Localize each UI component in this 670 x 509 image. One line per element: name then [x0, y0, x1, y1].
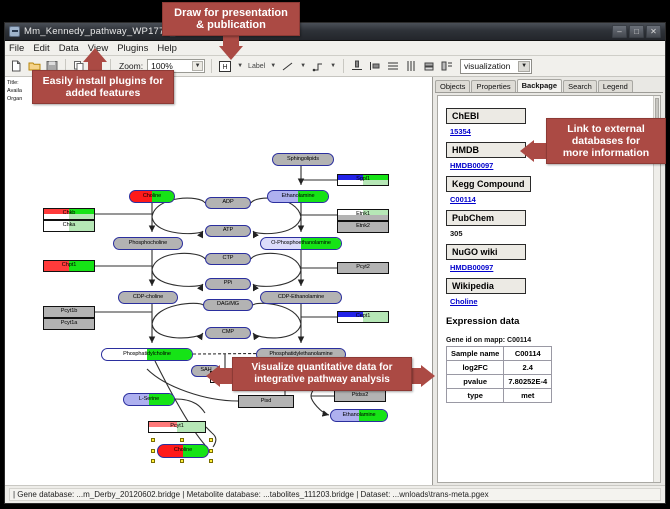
- table-row: log2FC 2.4: [447, 361, 552, 375]
- chevron-down-icon[interactable]: ▼: [330, 63, 336, 69]
- toolbar-separator-3: [211, 59, 212, 73]
- callout-external-links-line3: more information: [555, 147, 657, 159]
- gene-node-pcyt1a[interactable]: Pcyt1a: [43, 318, 95, 330]
- handle-w[interactable]: [151, 449, 155, 453]
- chevron-down-icon[interactable]: ▼: [270, 63, 276, 69]
- node-label: Ethanolamine: [281, 194, 314, 200]
- value-pubchem: 305: [450, 229, 652, 238]
- metabolite-node-atp[interactable]: ATP: [205, 225, 251, 237]
- expression-table: Sample name C00114 log2FC 2.4 pvalue 7.8…: [446, 346, 552, 403]
- metabolite-node-cdp-choline[interactable]: CDP-choline: [118, 291, 178, 304]
- section-header-hmdb: HMDB: [446, 142, 526, 158]
- distribute-rows-icon[interactable]: [386, 59, 400, 73]
- align-bottom-icon[interactable]: [350, 59, 364, 73]
- label-tool[interactable]: Label: [248, 63, 265, 70]
- node-label: Etnk2: [356, 224, 370, 230]
- node-label: O-Phosphoethanolamine: [271, 241, 331, 247]
- callout-visualize-line1: Visualize quantitative data for: [241, 362, 403, 374]
- menu-item-data[interactable]: Data: [59, 43, 79, 54]
- callout-plugins-arrowhead: [83, 48, 107, 62]
- callout-external-links-line2: databases for: [555, 135, 657, 147]
- node-label: Etnk1: [356, 212, 370, 218]
- metabolite-node-sphingolipids[interactable]: Sphingolipids: [272, 153, 334, 166]
- handle-s[interactable]: [180, 459, 184, 463]
- gene-node-chpt1[interactable]: Chpt1: [43, 260, 95, 272]
- gene-node-etnk2[interactable]: Etnk2: [337, 221, 389, 233]
- line-tool-icon[interactable]: [281, 59, 295, 73]
- callout-external-links: Link to external databases for more info…: [546, 118, 666, 164]
- gene-node-pcyt1b[interactable]: Pcyt1b: [43, 306, 95, 318]
- gene-node-chka[interactable]: Chka: [43, 220, 95, 232]
- expr-key-type: type: [447, 389, 504, 403]
- visualization-combo[interactable]: visualization ▼: [460, 59, 532, 74]
- metabolite-node-cdp-ethanolamine[interactable]: CDP-Ethanolamine: [260, 291, 342, 304]
- gene-node-etnk1[interactable]: Etnk1: [337, 209, 389, 221]
- section-header-wikipedia: Wikipedia: [446, 278, 526, 294]
- metabolite-node-ctp[interactable]: CTP: [205, 253, 251, 265]
- node-label: CDP-Ethanolamine: [278, 295, 324, 301]
- node-label: Chka: [63, 223, 76, 229]
- title-bar: Mm_Kennedy_pathway_WP1771_45176.gpml – □…: [5, 23, 665, 41]
- metabolite-node-adp[interactable]: ADP: [205, 197, 251, 209]
- menu-item-edit[interactable]: Edit: [33, 43, 49, 54]
- callout-visualize: Visualize quantitative data for integrat…: [232, 357, 412, 391]
- node-label: Chpt1: [62, 263, 76, 269]
- visualization-value: visualization: [464, 61, 510, 71]
- expr-key-sample-name: Sample name: [447, 347, 504, 361]
- toolbar-separator-4: [343, 59, 344, 73]
- table-row: pvalue 7.80252E-4: [447, 375, 552, 389]
- gene-node-pcyt2[interactable]: Pcyt2: [337, 262, 389, 274]
- metabolite-node-phosphatidylcholine[interactable]: Phosphatidylcholine: [101, 348, 193, 361]
- gene-node-pcyt1[interactable]: Pcyt1: [148, 421, 206, 433]
- maximize-button[interactable]: □: [629, 25, 644, 38]
- link-nugo-wiki[interactable]: HMDB00097: [450, 263, 652, 272]
- tab-search[interactable]: Search: [563, 80, 597, 92]
- menu-item-file[interactable]: File: [9, 43, 24, 54]
- callout-draw-arrowhead: [219, 46, 243, 60]
- expr-val-pvalue: 7.80252E-4: [504, 375, 552, 389]
- callout-external-links-line1: Link to external: [555, 123, 657, 135]
- expression-data-title: Expression data: [446, 316, 652, 327]
- metabolite-node-ethanolamine-bottom[interactable]: Ethanolamine: [330, 409, 388, 422]
- node-label: Sgpl1: [356, 177, 370, 183]
- callout-draw-line2: & publication: [171, 19, 291, 31]
- section-header-nugo-wiki: NuGO wiki: [446, 244, 526, 260]
- align-left-icon[interactable]: [368, 59, 382, 73]
- interaction-tool-icon[interactable]: [311, 59, 325, 73]
- node-label: PPi: [224, 281, 232, 287]
- section-header-kegg-compound: Kegg Compound: [446, 176, 531, 192]
- node-label: Choline: [174, 448, 192, 454]
- screenshot-root: Mm_Kennedy_pathway_WP1771_45176.gpml – □…: [0, 0, 670, 509]
- callout-external-links-arrowhead: [520, 140, 534, 162]
- node-label: Phosphatidylcholine: [123, 352, 171, 358]
- expr-key-log2fc: log2FC: [447, 361, 504, 375]
- new-file-icon[interactable]: [9, 59, 23, 73]
- node-label: CTP: [223, 256, 234, 262]
- handle-sw[interactable]: [151, 459, 155, 463]
- tab-objects[interactable]: Objects: [435, 80, 470, 92]
- table-row: Sample name C00114: [447, 347, 552, 361]
- expr-val-type: met: [504, 389, 552, 403]
- metabolite-node-ppi[interactable]: PPi: [205, 278, 251, 290]
- status-bar: | Gene database: ...m_Derby_20120602.bri…: [5, 485, 665, 503]
- handle-e[interactable]: [209, 449, 213, 453]
- chevron-down-icon[interactable]: ▼: [192, 61, 203, 71]
- table-row: type met: [447, 389, 552, 403]
- handle-ne[interactable]: [209, 438, 213, 442]
- close-button[interactable]: ✕: [646, 25, 661, 38]
- distribute-cols-icon[interactable]: [404, 59, 418, 73]
- gene-node-chkb[interactable]: Chkb: [43, 208, 95, 220]
- tab-legend[interactable]: Legend: [598, 80, 633, 92]
- node-label: Phosphocholine: [129, 241, 167, 247]
- callout-plugins: Easily install plugins for added feature…: [32, 70, 174, 104]
- minimize-button[interactable]: –: [612, 25, 627, 38]
- metabolite-node-dagmg[interactable]: DAG/MG: [203, 299, 253, 311]
- callout-visualize-arrowhead-right: [421, 365, 435, 387]
- metabolite-node-choline-top[interactable]: Choline: [129, 190, 175, 203]
- node-label: CDP-choline: [133, 295, 163, 301]
- chevron-down-icon[interactable]: ▼: [518, 61, 530, 72]
- gene-node-ptdss2[interactable]: Ptdss2: [334, 390, 386, 402]
- metabolite-node-cmp[interactable]: CMP: [205, 327, 251, 339]
- node-label: L-Serine: [139, 397, 159, 403]
- link-wikipedia[interactable]: Choline: [450, 297, 652, 306]
- callout-visualize-arrowhead-left: [206, 365, 220, 387]
- metabolite-node-ethanolamine-top[interactable]: Ethanolamine: [267, 190, 329, 203]
- node-label: CMP: [222, 330, 234, 336]
- node-label: Pcyt1a: [61, 321, 78, 327]
- callout-draw-line1: Draw for presentation: [171, 7, 291, 19]
- node-label: Pcyt1b: [61, 309, 78, 315]
- menu-item-plugins[interactable]: Plugins: [117, 43, 148, 54]
- section-header-pubchem: PubChem: [446, 210, 526, 226]
- node-label: Pcyt2: [356, 265, 370, 271]
- node-label: Cept1: [356, 314, 370, 320]
- section-header-chebi: ChEBI: [446, 108, 526, 124]
- node-label: Ptdss2: [352, 393, 369, 399]
- gene-node-sgpl1[interactable]: Sgpl1: [337, 174, 389, 186]
- callout-plugins-line2: added features: [41, 87, 165, 99]
- side-panel-tabs: Objects Properties Backpage Search Legen…: [435, 79, 663, 93]
- node-label: Choline: [143, 194, 161, 200]
- expression-gene-id: Gene id on mapp: C00114: [446, 337, 652, 344]
- app-icon: [9, 26, 20, 37]
- datanode-icon[interactable]: H: [218, 59, 232, 73]
- metabolite-node-l-serine-left[interactable]: L-Serine: [123, 393, 175, 406]
- node-label: DAG/MG: [217, 302, 239, 308]
- chevron-down-icon[interactable]: ▼: [237, 63, 243, 69]
- stack-icon[interactable]: [422, 59, 436, 73]
- link-kegg-compound[interactable]: C00114: [450, 195, 652, 204]
- node-label: Pisd: [261, 399, 271, 405]
- handle-n[interactable]: [180, 438, 184, 442]
- expr-val-sample-name: C00114: [504, 347, 552, 361]
- node-label: Pcyt1: [170, 424, 184, 430]
- order-icon[interactable]: [440, 59, 454, 73]
- expr-val-log2fc: 2.4: [504, 361, 552, 375]
- handle-se[interactable]: [209, 459, 213, 463]
- chevron-down-icon[interactable]: ▼: [300, 63, 306, 69]
- node-label: Chkb: [63, 211, 76, 217]
- tab-properties[interactable]: Properties: [471, 80, 515, 92]
- gene-node-cept1[interactable]: Cept1: [337, 311, 389, 323]
- expr-key-pvalue: pvalue: [447, 375, 504, 389]
- tab-backpage[interactable]: Backpage: [517, 79, 562, 92]
- pathway-canvas[interactable]: Title: Availa Organ: [5, 77, 433, 485]
- callout-draw: Draw for presentation & publication: [162, 2, 300, 36]
- node-label: Sphingolipids: [287, 157, 319, 163]
- callout-plugins-line1: Easily install plugins for: [41, 75, 165, 87]
- node-label: ATP: [223, 228, 233, 234]
- svg-text:H: H: [223, 64, 228, 71]
- gene-node-pisd[interactable]: Pisd: [238, 395, 294, 408]
- node-label: ADP: [222, 200, 233, 206]
- node-label: Ethanolamine: [342, 413, 375, 419]
- handle-nw[interactable]: [151, 438, 155, 442]
- metabolite-node-o-phosphoethanolamine[interactable]: O-Phosphoethanolamine: [260, 237, 342, 250]
- status-text: | Gene database: ...m_Derby_20120602.bri…: [9, 488, 661, 501]
- menu-item-help[interactable]: Help: [157, 43, 177, 54]
- window-controls: – □ ✕: [612, 25, 661, 38]
- callout-visualize-line2: integrative pathway analysis: [241, 374, 403, 386]
- metabolite-node-phosphocholine[interactable]: Phosphocholine: [113, 237, 183, 250]
